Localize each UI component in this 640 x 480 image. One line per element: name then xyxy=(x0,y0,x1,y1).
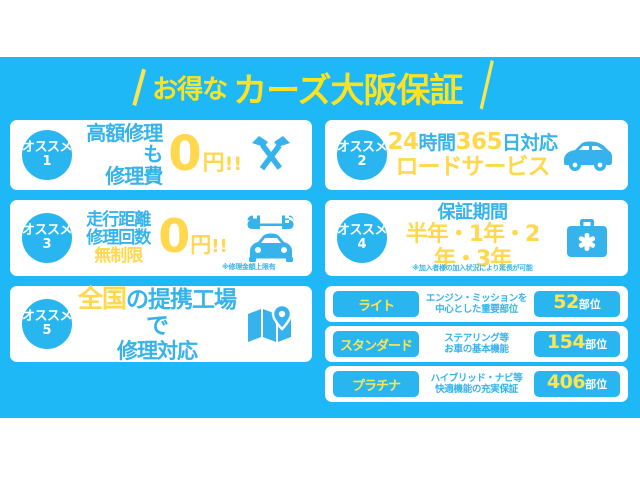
badge-number: 1 xyxy=(42,155,51,169)
feature-card-1: オススメ 1 高額修理も 修理費 0 円 !! xyxy=(10,120,312,190)
card-3-text: 走行距離 修理回数 無制限 xyxy=(86,211,150,265)
card-5-line-1-rest: の提携工場で xyxy=(126,287,236,339)
plan-count-value: 52 xyxy=(553,291,578,313)
card-3-line-1: 走行距離 xyxy=(86,211,150,229)
card-1-line-2: 修理費 xyxy=(72,166,162,188)
plan-description-line-2: 快適機能の充実保証 xyxy=(422,384,531,395)
card-1-line-1: 高額修理も xyxy=(72,123,162,166)
car-side-icon xyxy=(558,127,616,183)
wrench-car-icon xyxy=(242,210,300,266)
plan-description: ステアリング等 お車の基本機能 xyxy=(419,333,534,356)
feature-card-4-body: 保証期間 半年・1年・2年・3年 ※加入者様の加入状況により延長が可能 xyxy=(387,200,558,276)
poster-title: \ お得な カーズ大阪保証 ／ xyxy=(0,62,640,112)
card-3-amount-unit: 円 xyxy=(190,229,211,259)
feature-card-2-body: 24時間365日対応 ロードサービス xyxy=(387,120,558,190)
plan-description-line-2: 中心とした重要部位 xyxy=(422,304,531,315)
feature-card-5: オススメ 5 全国の提携工場で 修理対応 xyxy=(10,286,312,362)
card-2-line-2: ロードサービス xyxy=(387,155,557,180)
recommend-badge-5: オススメ 5 xyxy=(22,299,72,349)
feature-card-2: オススメ 2 24時間365日対応 ロードサービス xyxy=(325,120,628,190)
card-1-amount-value: 0 xyxy=(168,134,201,175)
plan-row[interactable]: スタンダード ステアリング等 お車の基本機能 154 部位 xyxy=(325,326,628,362)
card-1-amount-exclaim: !! xyxy=(225,153,242,175)
card-4-note: ※加入者様の加入状況により延長が可能 xyxy=(412,263,532,273)
badge-number: 4 xyxy=(357,238,366,252)
card-3-amount: 0 円 !! xyxy=(158,217,227,259)
plan-count-unit: 部位 xyxy=(585,336,607,352)
plan-coverage-count: 406 部位 xyxy=(534,371,620,397)
plan-count-unit: 部位 xyxy=(585,376,607,392)
folded-map-pin-icon xyxy=(242,296,300,352)
plan-count-unit: 部位 xyxy=(579,296,601,312)
plan-row[interactable]: プラチナ ハイブリッド・ナビ等 快適機能の充実保証 406 部位 xyxy=(325,366,628,402)
plan-name-badge: ライト xyxy=(333,291,419,317)
card-3-amount-exclaim: !! xyxy=(211,236,227,257)
plan-row[interactable]: ライト エンジン・ミッションを 中心とした重要部位 52 部位 xyxy=(325,286,628,322)
crossed-hammers-icon xyxy=(242,127,300,183)
card-2-days: 365 xyxy=(456,129,503,155)
card-5-line-2: 修理対応 xyxy=(72,340,242,364)
card-5-highlight: 全国 xyxy=(78,284,126,313)
feature-card-5-body: 全国の提携工場で 修理対応 xyxy=(72,286,242,362)
card-4-line-1: 保証期間 xyxy=(387,203,558,223)
card-3-line-2: 修理回数 xyxy=(86,229,150,247)
feature-card-3: オススメ 3 走行距離 修理回数 無制限 0 円 !! ※修理金額上限有 xyxy=(10,200,312,276)
badge-label: オススメ xyxy=(22,310,72,324)
card-2-text: 24時間365日対応 ロードサービス xyxy=(387,130,557,181)
recommend-badge-4: オススメ 4 xyxy=(337,213,387,263)
plan-name-badge: スタンダード xyxy=(333,331,419,357)
title-prefix: お得な xyxy=(152,69,227,106)
title-main: カーズ大阪保証 xyxy=(233,63,462,112)
recommend-badge-1: オススメ 1 xyxy=(22,130,72,180)
feature-card-3-body: 走行距離 修理回数 無制限 0 円 !! ※修理金額上限有 xyxy=(72,200,242,276)
card-1-amount-unit: 円 xyxy=(203,145,225,177)
title-slash-right-icon: ／ xyxy=(460,61,518,113)
badge-label: オススメ xyxy=(337,141,387,155)
card-2-hours: 24 xyxy=(387,129,418,155)
card-5-line-1: 全国の提携工場で xyxy=(72,285,242,340)
card-1-amount: 0 円 !! xyxy=(168,134,242,177)
badge-label: オススメ xyxy=(22,224,72,238)
recommend-badge-2: オススメ 2 xyxy=(337,130,387,180)
card-3-line-3: 無制限 xyxy=(86,247,150,265)
card-5-text: 全国の提携工場で 修理対応 xyxy=(72,285,242,363)
card-1-text: 高額修理も 修理費 xyxy=(72,123,162,188)
plan-count-value: 154 xyxy=(547,331,585,353)
plan-description-line-2: お車の基本機能 xyxy=(422,344,531,355)
plan-coverage-count: 154 部位 xyxy=(534,331,620,357)
plan-count-value: 406 xyxy=(547,371,585,393)
card-2-line-1: 24時間365日対応 xyxy=(387,130,557,155)
badge-number: 3 xyxy=(42,238,51,252)
warranty-poster: \ お得な カーズ大阪保証 ／ オススメ 1 高額修理も 修理費 0 円 !! xyxy=(0,0,640,480)
badge-number: 2 xyxy=(357,155,366,169)
feature-card-1-body: 高額修理も 修理費 0 円 !! xyxy=(72,120,242,190)
badge-number: 5 xyxy=(42,324,51,338)
plan-description-line-1: エンジン・ミッションを xyxy=(422,293,531,304)
card-3-amount-value: 0 xyxy=(158,217,190,256)
plan-coverage-count: 52 部位 xyxy=(534,291,620,317)
card-2-hours-unit: 時間 xyxy=(418,132,455,154)
badge-label: オススメ xyxy=(22,141,72,155)
card-2-days-unit: 日対応 xyxy=(502,132,558,154)
plan-description: ハイブリッド・ナビ等 快適機能の充実保証 xyxy=(419,373,534,396)
card-3-note: ※修理金額上限有 xyxy=(222,262,275,272)
plan-description: エンジン・ミッションを 中心とした重要部位 xyxy=(419,293,534,316)
plan-description-line-1: ハイブリッド・ナビ等 xyxy=(422,373,531,384)
first-aid-case-icon xyxy=(558,210,616,266)
feature-card-4: オススメ 4 保証期間 半年・1年・2年・3年 ※加入者様の加入状況により延長が… xyxy=(325,200,628,276)
badge-label: オススメ xyxy=(337,224,387,238)
plan-description-line-1: ステアリング等 xyxy=(422,333,531,344)
recommend-badge-3: オススメ 3 xyxy=(22,213,72,263)
plan-name-badge: プラチナ xyxy=(333,371,419,397)
